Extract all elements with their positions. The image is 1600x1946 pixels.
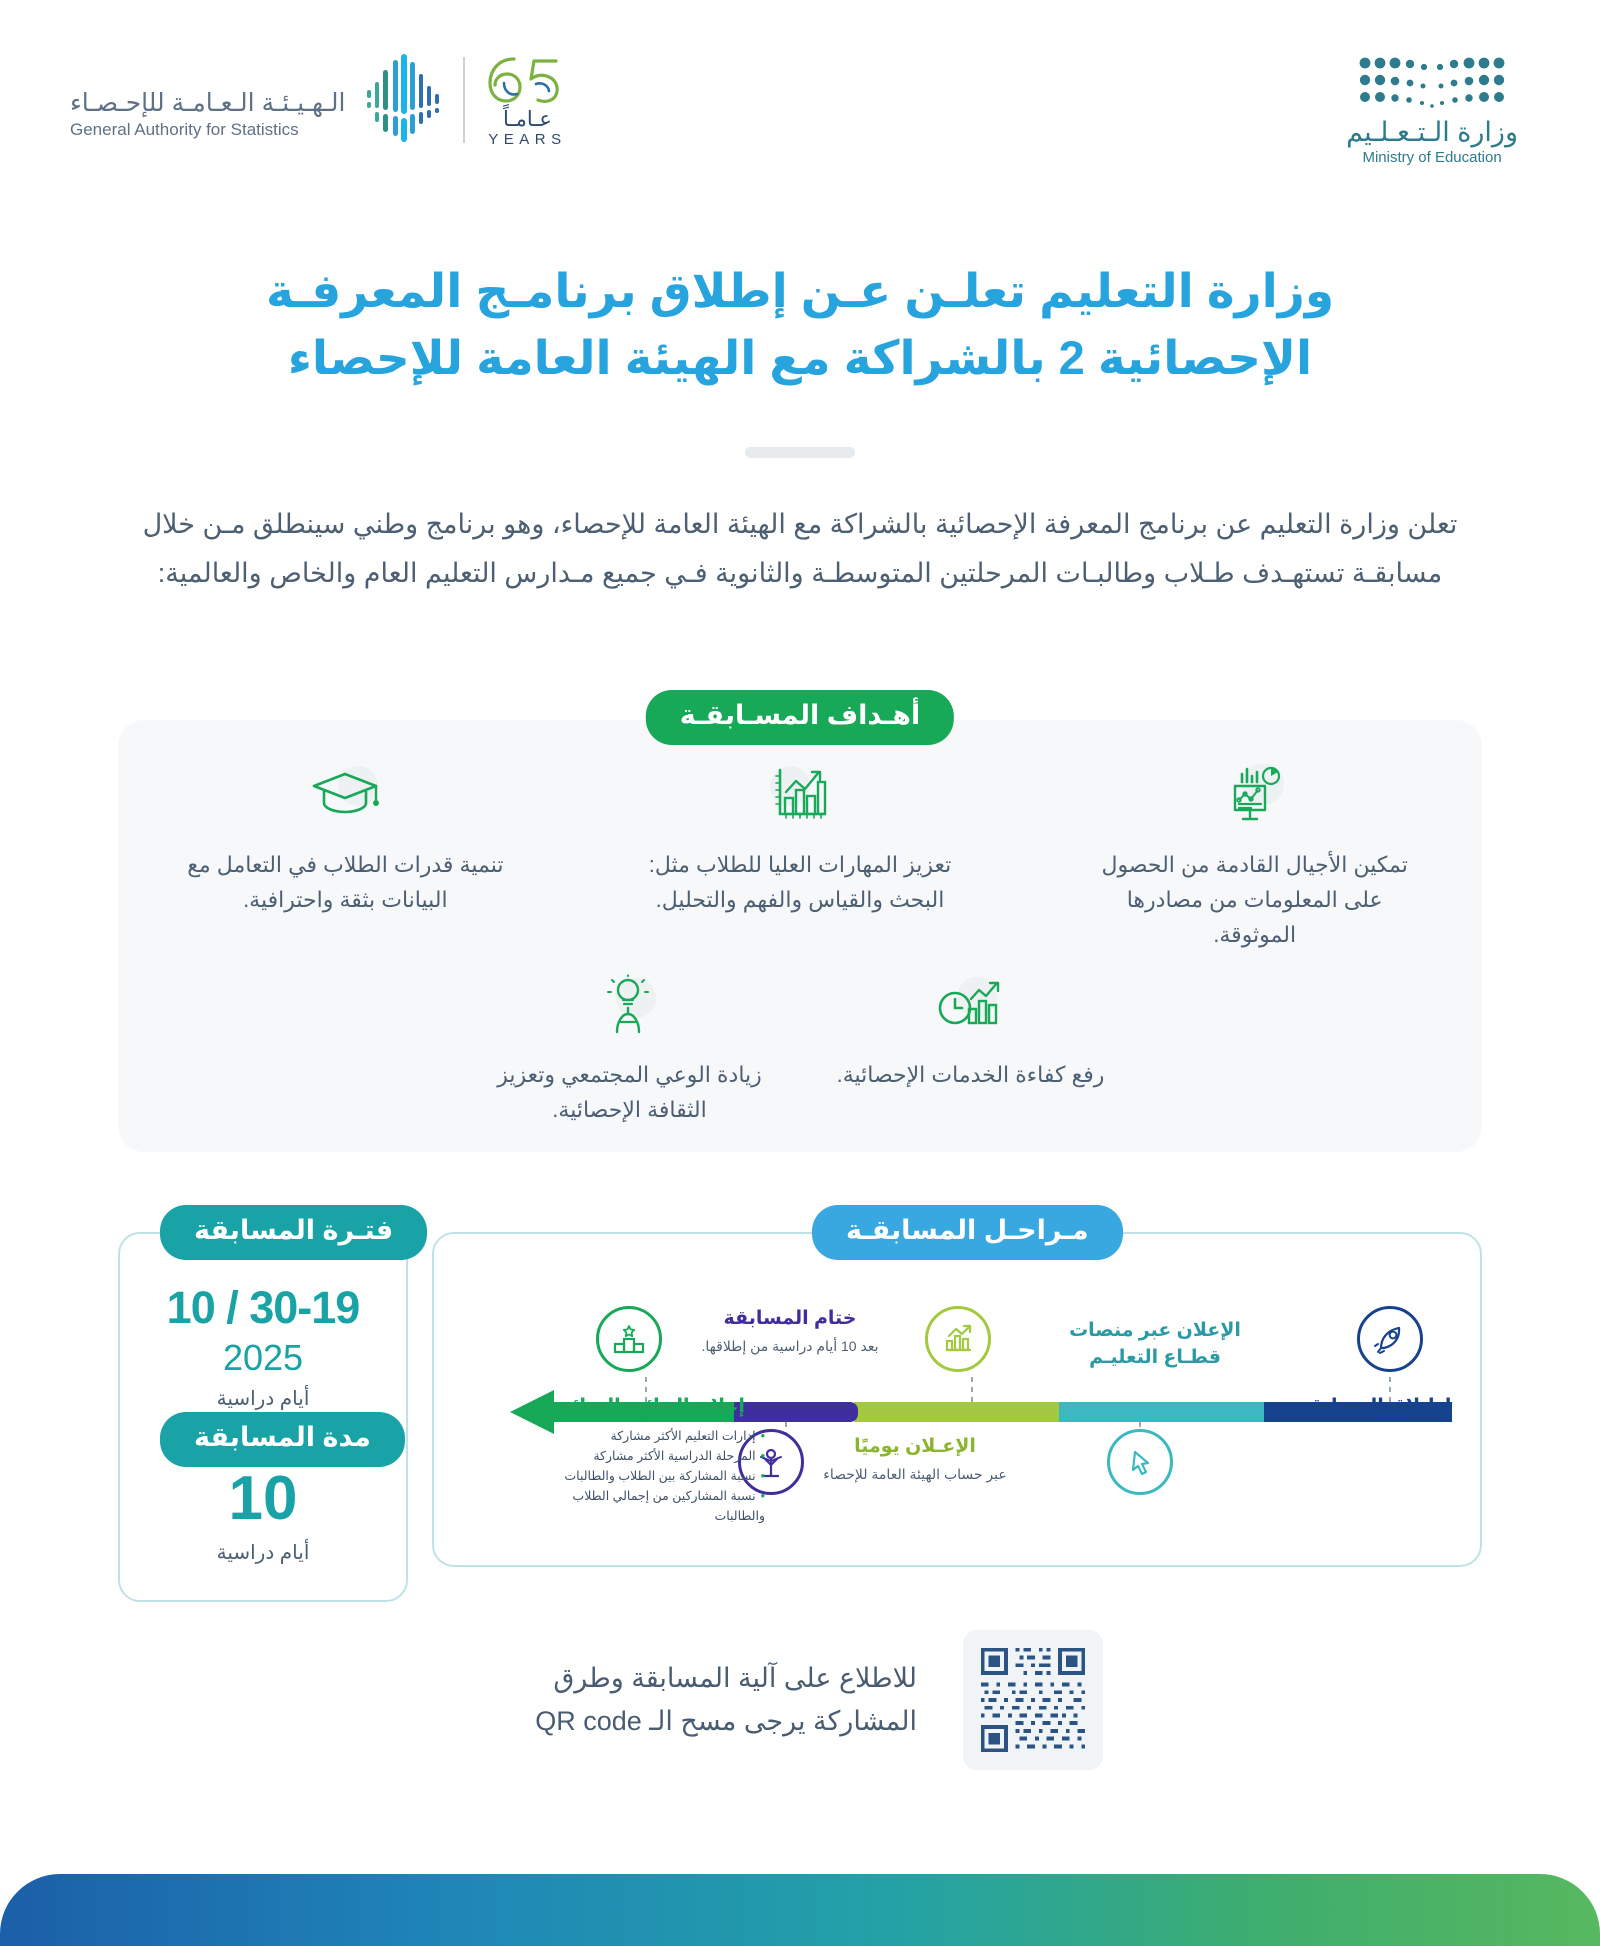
poster-page: عـامـاً YEARS — [0, 0, 1600, 1946]
qr-code-icon[interactable] — [963, 1630, 1103, 1770]
gastat-logo: عـامـاً YEARS — [70, 52, 571, 148]
moe-logo: وزارة الـتـعـلـيم Ministry of Education — [1346, 55, 1518, 166]
period-year: 2025 — [120, 1337, 406, 1379]
rocket-icon — [1373, 1322, 1407, 1356]
period-sub: أيام دراسية — [120, 1386, 406, 1411]
stage-label-daily: الإعـلان يوميًا عبر حساب الهيئة العامة ل… — [790, 1434, 1040, 1484]
objective-item: رفع كفاءة الخدمات الإحصائية. — [800, 968, 1141, 1128]
objective-spacer — [1141, 968, 1482, 1128]
results-bullet: نسبة المشاركة بين الطلاب والطالبات — [533, 1466, 765, 1486]
objective-item: زيادة الوعي المجتمعي وتعزيز الثقافة الإح… — [459, 968, 800, 1128]
monitor-statistics-icon — [306, 758, 384, 832]
moe-name-en: Ministry of Education — [1362, 149, 1501, 166]
timeline: إطـلاق المسابقة الإعلان عبر منصات قطـاع … — [434, 1234, 1480, 1565]
period-dates: 10 / 30-19 — [120, 1282, 406, 1334]
podium-star-icon — [612, 1323, 646, 1355]
stage-node-platforms — [1107, 1429, 1173, 1495]
anniversary-badge: عـامـاً YEARS — [483, 53, 571, 148]
title-line-1: وزارة التعليم تعلـن عـن إطلاق برنامـج ال… — [210, 258, 1390, 325]
objective-text: تمكين الأجيال القادمة من الحصول على المع… — [1090, 848, 1420, 952]
years-label-en: YEARS — [488, 131, 566, 148]
duration-sub: أيام دراسية — [120, 1540, 406, 1565]
stage-label-platforms: الإعلان عبر منصات قطـاع التعليـم — [1060, 1318, 1250, 1371]
objective-text: تعزيز المهارات العليا للطلاب مثل: البحث … — [635, 848, 965, 918]
title-divider — [745, 447, 855, 458]
moe-dots-emblem-icon — [1357, 55, 1507, 113]
objective-item: تمكين الأجيال القادمة من الحصول على المع… — [1027, 758, 1482, 952]
poster-header: عـامـاً YEARS — [0, 0, 1600, 200]
stage-label-launch: إطـلاق المسابقة — [1290, 1394, 1460, 1421]
qr-section: للاطلاع على آلية المسابقة وطرق المشاركة … — [0, 1630, 1600, 1770]
stage-label-results: إعلان النتائـج النهائية إدارات التعليم ا… — [533, 1394, 765, 1526]
objective-spacer — [118, 968, 459, 1128]
stage-node-launch — [1357, 1306, 1423, 1372]
qr-instruction-text: للاطلاع على آلية المسابقة وطرق المشاركة … — [497, 1657, 917, 1743]
footer-gradient-bar — [0, 1874, 1600, 1946]
stage-node-daily — [925, 1306, 991, 1372]
objectives-row-top: تمكين الأجيال القادمة من الحصول على المع… — [118, 758, 1482, 952]
duration-value: 10 — [120, 1468, 406, 1530]
footer-notch — [0, 1848, 1600, 1874]
gastat-name-ar: الـهـيـئـة الـعـامـة للإحـصـاء — [70, 90, 345, 118]
intro-paragraph: تعلن وزارة التعليم عن برنامج المعرفة الإ… — [118, 500, 1482, 598]
results-bullet: المرحلة الدراسية الأكثر مشاركة — [533, 1446, 765, 1466]
objectives-row-bottom: رفع كفاءة الخدمات الإحصائية. — [118, 968, 1482, 1128]
dashboard-analytics-icon — [1219, 758, 1291, 832]
period-badge: فتـرة المسابقة — [160, 1205, 427, 1260]
click-cursor-icon — [1124, 1446, 1156, 1478]
growth-chart-icon — [941, 1323, 975, 1355]
objective-text: تنمية قدرات الطلاب في التعامل مع البيانا… — [180, 848, 510, 918]
logo-divider — [463, 57, 465, 143]
objectives-panel: تمكين الأجيال القادمة من الحصول على المع… — [118, 720, 1482, 1152]
competition-stages-card: إطـلاق المسابقة الإعلان عبر منصات قطـاع … — [432, 1232, 1482, 1567]
moe-name-ar: وزارة الـتـعـلـيم — [1346, 117, 1518, 148]
objective-item: تنمية قدرات الطلاب في التعامل مع البيانا… — [118, 758, 573, 952]
years-label-ar: عـامـاً — [503, 107, 552, 132]
stage-node-results — [596, 1306, 662, 1372]
gastat-wordmark: الـهـيـئـة الـعـامـة للإحـصـاء General A… — [70, 58, 345, 142]
gastat-bars-icon — [363, 52, 445, 148]
objective-text: رفع كفاءة الخدمات الإحصائية. — [837, 1058, 1105, 1093]
stage-label-closing: ختام المسابقة بعد 10 أيام دراسية من إطلا… — [700, 1306, 880, 1356]
objective-item: تعزيز المهارات العليا للطلاب مثل: البحث … — [573, 758, 1028, 952]
clock-chart-icon — [935, 968, 1007, 1042]
lightbulb-person-icon — [598, 968, 662, 1042]
results-bullet: إدارات التعليم الأكثر مشاركة — [533, 1426, 765, 1446]
65-years-icon — [484, 53, 570, 105]
title-line-2: الإحصائية 2 بالشراكة مع الهيئة العامة لل… — [210, 325, 1390, 392]
stages-badge: مـراحـل المسابقـة — [812, 1205, 1123, 1260]
results-bullets: إدارات التعليم الأكثر مشاركة المرحلة الد… — [533, 1426, 765, 1526]
results-bullet: نسبة المشاركين من إجمالي الطلاب والطالبا… — [533, 1486, 765, 1526]
duration-badge: مدة المسابقة — [160, 1412, 405, 1467]
objective-text: زيادة الوعي المجتمعي وتعزيز الثقافة الإح… — [465, 1058, 795, 1128]
bar-chart-growth-icon — [766, 758, 834, 832]
objectives-badge: أهـداف المسـابقـة — [646, 690, 954, 745]
page-title: وزارة التعليم تعلـن عـن إطلاق برنامـج ال… — [0, 258, 1600, 391]
gastat-name-en: General Authority for Statistics — [70, 120, 345, 140]
